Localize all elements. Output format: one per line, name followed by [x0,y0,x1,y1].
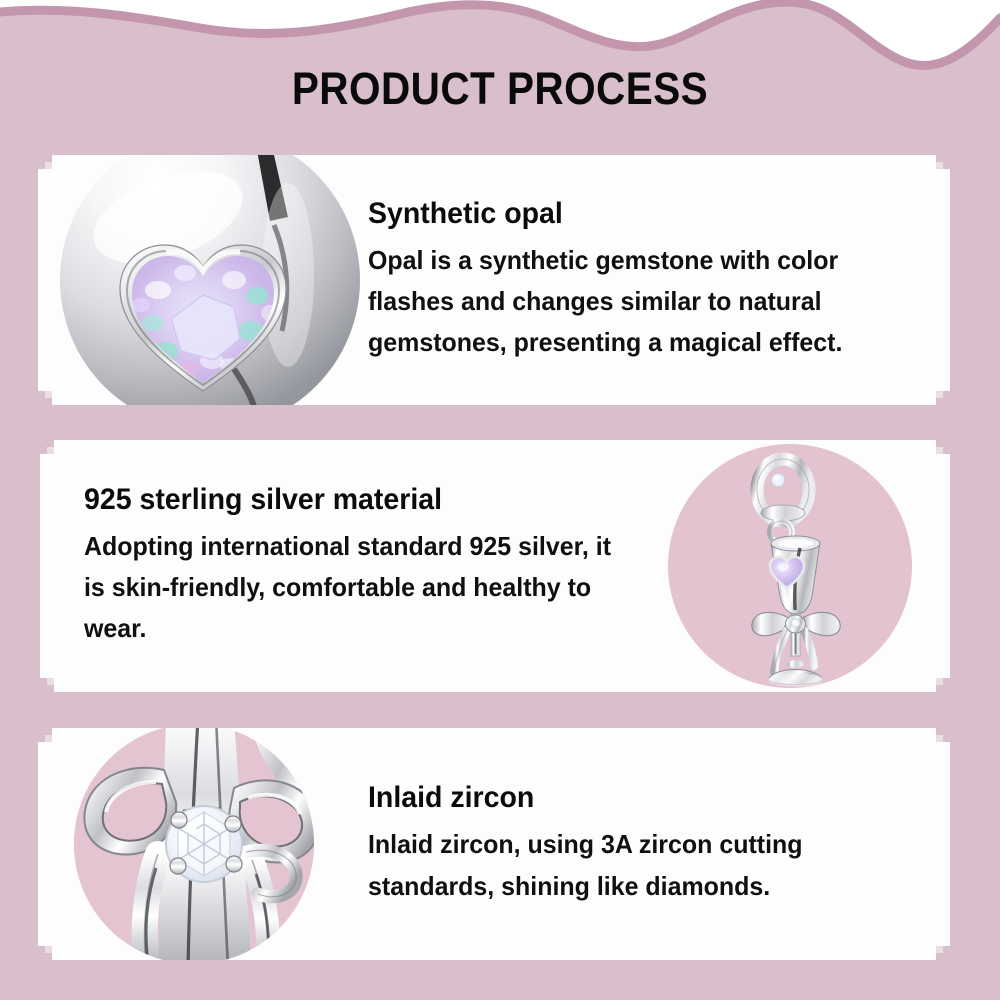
bow-zircon-closeup-photo [38,728,368,960]
card-heading: 925 sterling silver material [84,483,612,516]
card-copy: Synthetic opal Opal is a synthetic gemst… [368,197,950,363]
heart-opal-closeup-photo [38,155,368,405]
page-title: PRODUCT PROCESS [50,63,950,115]
card-heading: Synthetic opal [368,197,904,230]
card-copy: 925 sterling silver material Adopting in… [40,483,650,649]
card-body-text: Adopting international standard 925 silv… [84,526,618,649]
card-body-text: Inlaid zircon, using 3A zircon cutting s… [368,824,909,906]
infographic-canvas: PRODUCT PROCESS [0,0,1000,1000]
card-body-text: Opal is a synthetic gemstone with color … [368,240,909,363]
process-card-synthetic-opal: Synthetic opal Opal is a synthetic gemst… [38,155,950,405]
process-card-sterling-silver: 925 sterling silver material Adopting in… [40,440,950,692]
process-card-inlaid-zircon: Inlaid zircon Inlaid zircon, using 3A zi… [38,728,950,960]
card-heading: Inlaid zircon [368,781,904,814]
card-copy: Inlaid zircon Inlaid zircon, using 3A zi… [368,781,950,906]
champagne-glass-charm-photo [650,440,950,692]
